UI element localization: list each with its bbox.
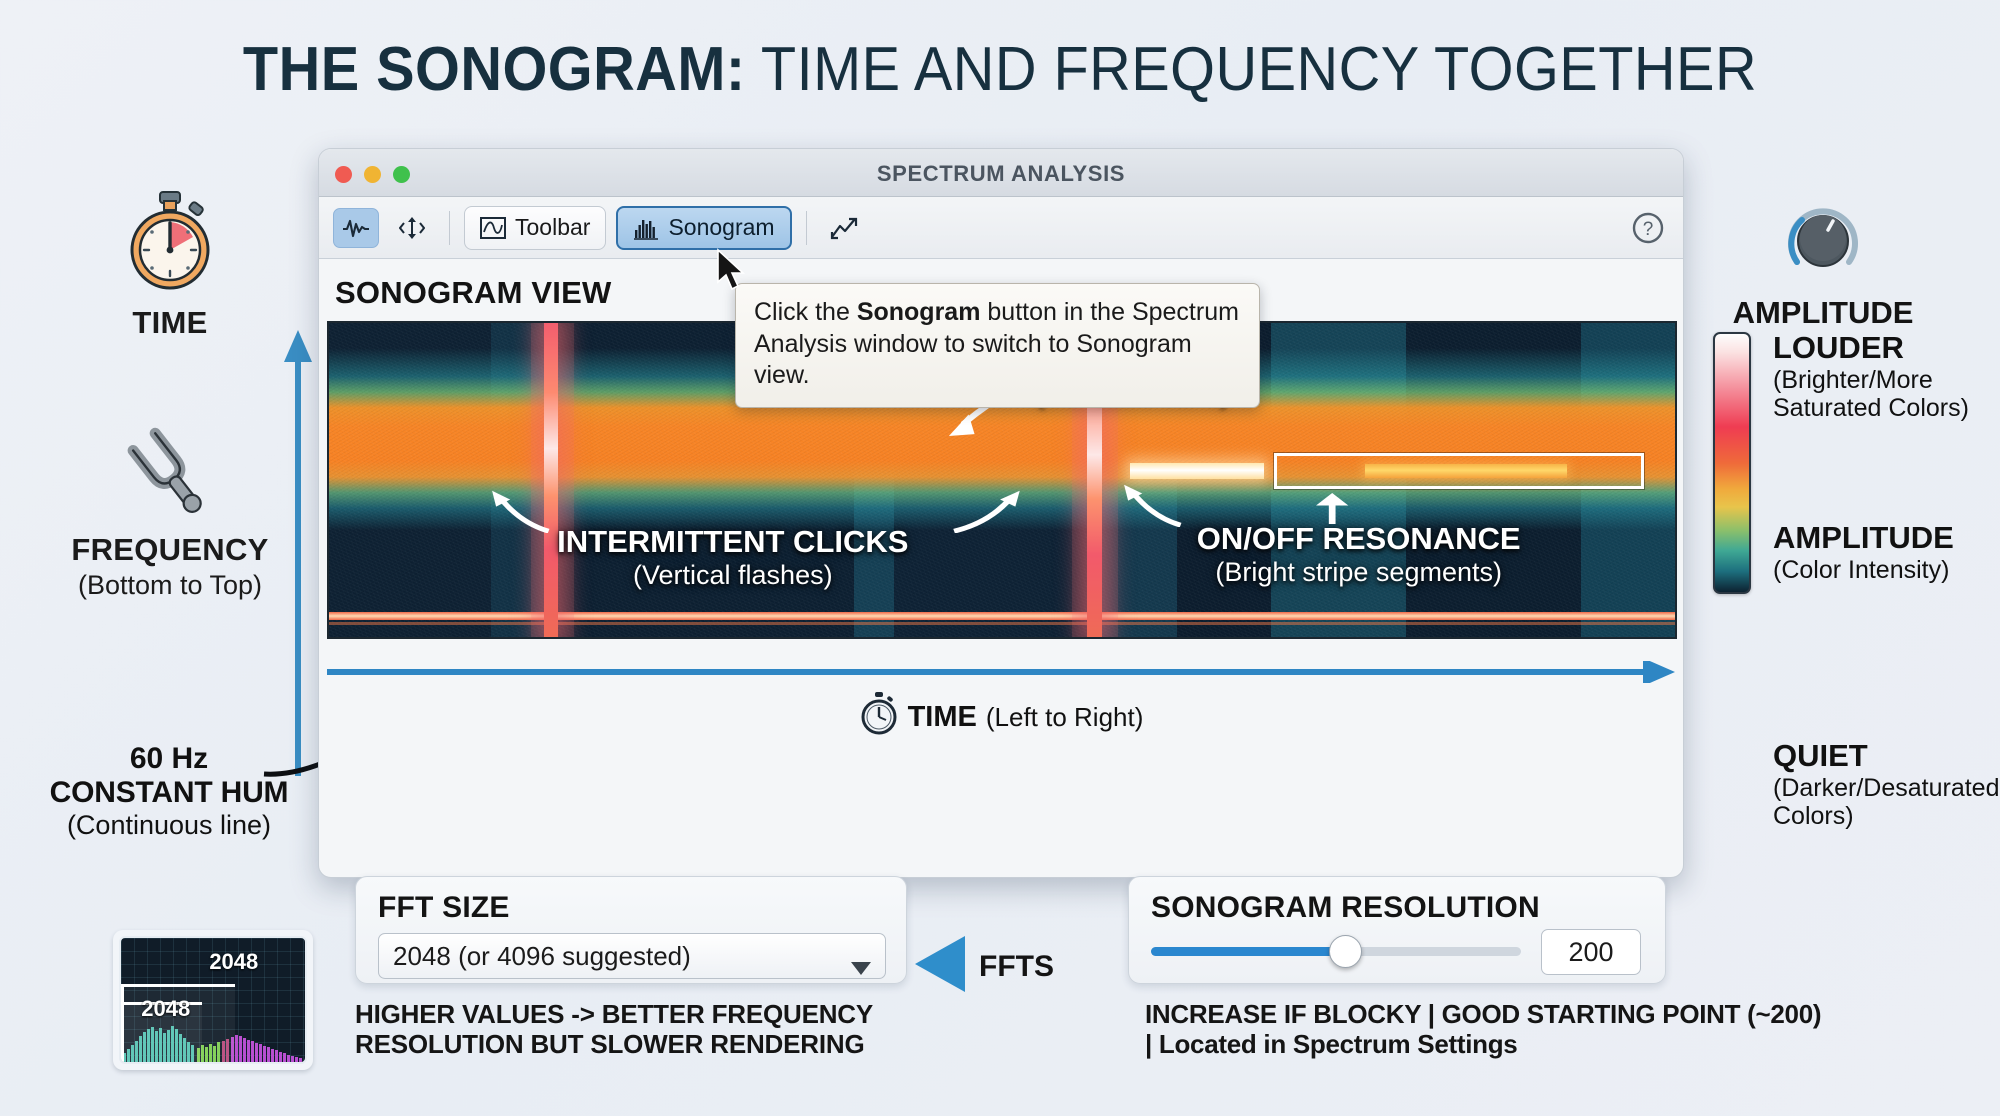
amplitude-title: AMPLITUDE <box>1656 295 1990 331</box>
fft-size-title: FFT SIZE <box>378 891 510 925</box>
stopwatch-icon <box>859 691 899 743</box>
page-title-light: TIME AND FREQUENCY TOGETHER <box>745 35 1757 104</box>
bar-spectrum-icon <box>633 216 659 240</box>
fft-thumbnail-screen: 2048 2048 <box>119 936 307 1064</box>
fft-size-help-line2: RESOLUTION BUT SLOWER RENDERING <box>355 1030 915 1060</box>
toolbar-separator-2 <box>806 211 807 245</box>
time-label: TIME <box>20 305 320 341</box>
sonogram-button[interactable]: Sonogram <box>616 206 791 250</box>
time-block: TIME <box>20 190 320 341</box>
legend-amplitude-sub: (Color Intensity) <box>1773 556 2000 584</box>
sine-window-icon <box>480 216 506 240</box>
ffts-marker: FFTS <box>915 934 1054 999</box>
time-axis-sub: (Left to Right) <box>986 702 1144 733</box>
right-rail: AMPLITUDE <box>1700 198 1990 331</box>
legend-louder-label: LOUDER <box>1773 330 2000 366</box>
fft-thumb-label-inner: 2048 <box>141 996 190 1022</box>
amplitude-knob-icon[interactable] <box>1656 198 1990 289</box>
sonogram-resolution-help-line2-pre: | Located in <box>1145 1029 1293 1059</box>
legend-louder-sub: (Brighter/More Saturated Colors) <box>1773 366 2000 422</box>
annotation-resonance-sub: (Bright stripe segments) <box>1137 557 1581 588</box>
frequency-label: FREQUENCY <box>20 532 320 568</box>
tuning-fork-icon <box>120 510 220 527</box>
frequency-sublabel: (Bottom to Top) <box>20 570 320 601</box>
fft-size-thumbnail: 2048 2048 <box>113 930 313 1070</box>
time-axis-arrow <box>327 661 1677 683</box>
time-axis-main: TIME <box>908 701 977 734</box>
window-toolbar: Toolbar Sonogram <box>319 197 1683 259</box>
sonogram-resolution-value[interactable]: 200 <box>1541 929 1641 975</box>
annotation-resonance: ON/OFF RESONANCE (Bright stripe segments… <box>1137 521 1581 588</box>
left-rail: TIME FREQUENCY (Bottom to Top) <box>20 190 320 601</box>
sonogram-resolution-slider-knob[interactable] <box>1329 935 1362 968</box>
annotation-clicks: INTERMITTENT CLICKS (Vertical flashes) <box>517 524 948 591</box>
legend-louder: LOUDER (Brighter/More Saturated Colors) <box>1773 330 2000 422</box>
sonogram-resolution-help-line2: | Located in Spectrum Settings <box>1145 1030 1885 1060</box>
page-title-strong: THE SONOGRAM: <box>243 35 746 104</box>
resize-vertical-icon[interactable] <box>389 208 435 248</box>
sonogram-resolution-panel: SONOGRAM RESOLUTION 200 <box>1128 876 1666 984</box>
spectrum-analysis-window: SPECTRUM ANALYSIS Too <box>318 148 1684 878</box>
time-axis-label: TIME (Left to Right) <box>319 691 1683 743</box>
left-triangle-icon <box>915 934 967 999</box>
help-circle-icon[interactable]: ? <box>1631 211 1665 250</box>
annotation-resonance-title: ON/OFF RESONANCE <box>1137 521 1581 557</box>
toolbar-button-label: Toolbar <box>515 214 590 241</box>
page-title: THE SONOGRAM: TIME AND FREQUENCY TOGETHE… <box>70 34 1930 105</box>
stopwatch-icon <box>122 190 218 299</box>
sonogram-resolution-slider[interactable] <box>1151 947 1521 956</box>
toolbar-button[interactable]: Toolbar <box>464 206 606 250</box>
fft-thumb-label-outer: 2048 <box>209 949 258 975</box>
sonogram-button-label: Sonogram <box>668 214 774 241</box>
chevron-down-icon[interactable] <box>851 951 871 982</box>
resonance-segment-a <box>1130 463 1265 479</box>
fft-size-select[interactable]: 2048 (or 4096 suggested) <box>378 933 886 979</box>
trend-line-icon[interactable] <box>821 208 867 248</box>
legend-amplitude: AMPLITUDE (Color Intensity) <box>1773 520 2000 584</box>
hum-line-3: (Continuous line) <box>24 810 314 841</box>
fft-size-panel: FFT SIZE 2048 (or 4096 suggested) <box>355 876 907 984</box>
legend-amplitude-label: AMPLITUDE <box>1773 520 2000 556</box>
sonogram-resolution-slider-fill <box>1151 947 1344 956</box>
legend-quiet-label: QUIET <box>1773 738 2000 774</box>
fft-size-value: 2048 (or 4096 suggested) <box>393 941 691 972</box>
annotation-clicks-sub: (Vertical flashes) <box>517 560 948 591</box>
sonogram-resolution-help: INCREASE IF BLOCKY | GOOD STARTING POINT… <box>1145 1000 1885 1059</box>
sonogram-resolution-title: SONOGRAM RESOLUTION <box>1151 891 1540 925</box>
svg-text:?: ? <box>1643 219 1654 240</box>
sonogram-view-label: SONOGRAM VIEW <box>335 275 611 311</box>
amplitude-colorbar <box>1713 332 1751 594</box>
legend-quiet-sub: (Darker/Desaturated Colors) <box>1773 774 2000 830</box>
annotation-clicks-arrow-right <box>941 489 1028 533</box>
tooltip-bold: Sonogram <box>857 298 981 326</box>
tooltip-before: Click the <box>754 298 857 326</box>
toolbar-separator-1 <box>449 211 450 245</box>
fft-size-help: HIGHER VALUES -> BETTER FREQUENCY RESOLU… <box>355 1000 915 1059</box>
sonogram-resolution-help-line1: INCREASE IF BLOCKY | GOOD STARTING POINT… <box>1145 1000 1885 1030</box>
sonogram-resolution-help-line2-bold: Spectrum Settings <box>1293 1029 1518 1059</box>
annotation-resonance-arrow-curved <box>1116 483 1197 527</box>
legend-quiet: QUIET (Darker/Desaturated Colors) <box>1773 738 2000 830</box>
annotation-clicks-title: INTERMITTENT CLICKS <box>517 524 948 560</box>
annotation-resonance-arrow-up <box>1312 493 1352 524</box>
ffts-marker-label: FFTS <box>979 950 1054 984</box>
window-titlebar[interactable]: SPECTRUM ANALYSIS <box>319 149 1683 197</box>
window-title: SPECTRUM ANALYSIS <box>319 161 1683 187</box>
annotation-clicks-arrow-left <box>484 489 565 533</box>
frequency-block: FREQUENCY (Bottom to Top) <box>20 427 320 601</box>
fft-size-help-line1: HIGHER VALUES -> BETTER FREQUENCY <box>355 1000 915 1030</box>
mouse-cursor <box>716 248 750 299</box>
waveform-icon[interactable] <box>333 208 379 248</box>
resonance-highlight-box <box>1274 453 1644 489</box>
sonogram-tooltip: Click the Sonogram button in the Spectru… <box>735 283 1260 408</box>
